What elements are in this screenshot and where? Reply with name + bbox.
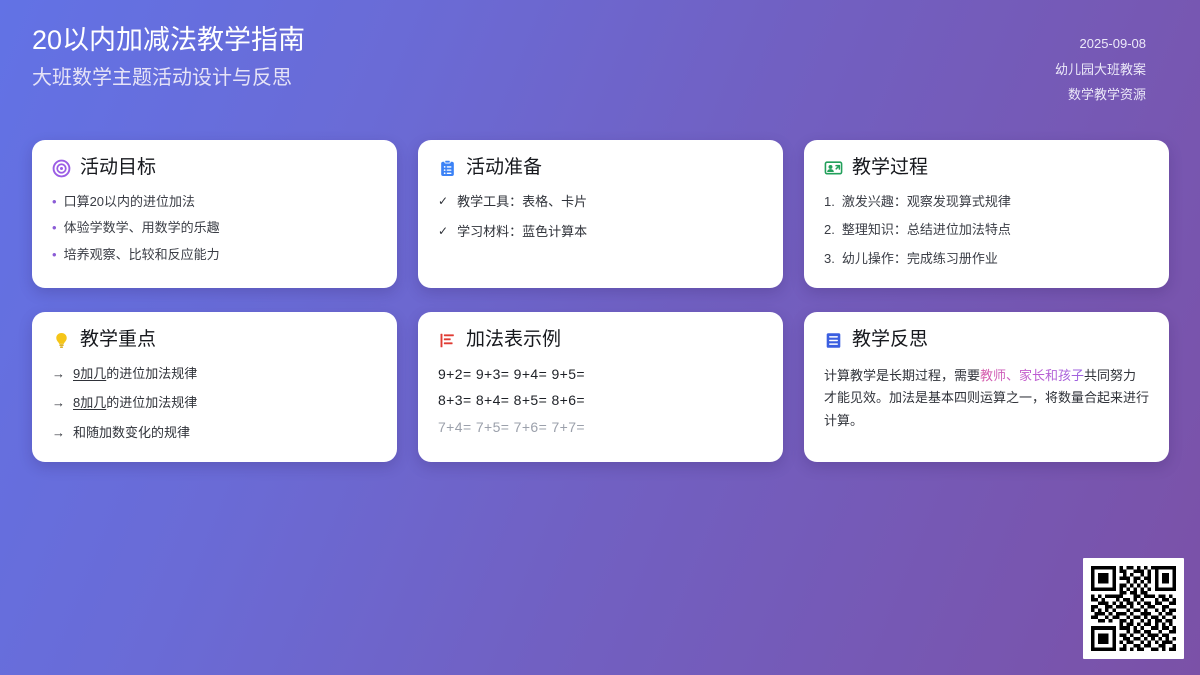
qr-code-image [1091, 566, 1176, 651]
preparation-list: ✓ 教学工具：表格、卡片 ✓ 学习材料：蓝色计算本 [438, 193, 763, 241]
list-item: • 口算20以内的进位加法 [52, 193, 377, 211]
card-header: 活动目标 [52, 157, 377, 180]
qr-code[interactable] [1083, 558, 1184, 659]
bullet-dot: • [52, 219, 57, 237]
card-key-points: 教学重点 → 9加几的进位加法规律 → 8加几的进位加法规律 → 和随加数变化的… [32, 312, 397, 462]
list-item: • 体验学数学、用数学的乐趣 [52, 219, 377, 237]
list-item-text: 培养观察、比较和反应能力 [64, 246, 220, 264]
list-item-text: 激发兴趣：观察发现算式规律 [842, 193, 1011, 211]
list-item-text: 教学工具：表格、卡片 [457, 193, 587, 211]
header-meta-block: 2025-09-08 幼儿园大班教案 数学教学资源 [1055, 24, 1146, 105]
list-item: 3. 幼儿操作：完成练习册作业 [824, 250, 1149, 268]
list-item-text: 体验学数学、用数学的乐趣 [64, 219, 220, 237]
process-list: 1. 激发兴趣：观察发现算式规律 2. 整理知识：总结进位加法特点 3. 幼儿操… [824, 193, 1149, 268]
bar-chart-icon [438, 331, 457, 350]
card-header: 活动准备 [438, 157, 763, 180]
rest-text: 和随加数变化的规律 [73, 425, 190, 440]
bullet-dot: • [52, 246, 57, 264]
card-reflection: 教学反思 计算教学是长期过程，需要教师、家长和孩子共同努力才能见效。加法是基本四… [804, 312, 1169, 462]
check-icon: ✓ [438, 193, 448, 209]
card-header: 加法表示例 [438, 329, 763, 352]
list-item-text: 9加几的进位加法规律 [73, 365, 197, 383]
page-header: 20以内加减法教学指南 大班数学主题活动设计与反思 2025-09-08 幼儿园… [0, 0, 1200, 120]
card-title: 活动目标 [80, 157, 156, 180]
meta-date: 2025-09-08 [1080, 34, 1147, 54]
list-item: • 培养观察、比较和反应能力 [52, 246, 377, 264]
equation-row: 7+4= 7+5= 7+6= 7+7= [438, 418, 763, 436]
card-title: 教学重点 [80, 329, 156, 352]
key-points-list: → 9加几的进位加法规律 → 8加几的进位加法规律 → 和随加数变化的规律 [52, 365, 377, 442]
list-item: → 8加几的进位加法规律 [52, 394, 377, 412]
list-item: → 和随加数变化的规律 [52, 424, 377, 442]
objective-list: • 口算20以内的进位加法 • 体验学数学、用数学的乐趣 • 培养观察、比较和反… [52, 193, 377, 264]
card-title: 活动准备 [466, 157, 542, 180]
page-subtitle: 大班数学主题活动设计与反思 [32, 63, 305, 93]
bullet-dot: • [52, 193, 57, 211]
card-preparation: 活动准备 ✓ 教学工具：表格、卡片 ✓ 学习材料：蓝色计算本 [418, 140, 783, 288]
card-objectives: 活动目标 • 口算20以内的进位加法 • 体验学数学、用数学的乐趣 • 培养观察… [32, 140, 397, 288]
list-item-text: 整理知识：总结进位加法特点 [842, 221, 1011, 239]
arrow-icon: → [52, 394, 65, 412]
lightbulb-icon [52, 331, 71, 350]
card-process: 教学过程 1. 激发兴趣：观察发现算式规律 2. 整理知识：总结进位加法特点 3… [804, 140, 1169, 288]
rest-text: 的进位加法规律 [106, 395, 197, 410]
arrow-icon: → [52, 424, 65, 442]
list-item-text: 和随加数变化的规律 [73, 424, 190, 442]
card-title: 教学反思 [852, 329, 928, 352]
list-item: 1. 激发兴趣：观察发现算式规律 [824, 193, 1149, 211]
list-item: 2. 整理知识：总结进位加法特点 [824, 221, 1149, 239]
presentation-icon [824, 159, 843, 178]
equation-row: 9+2= 9+3= 9+4= 9+5= [438, 365, 763, 383]
meta-source: 数学教学资源 [1068, 85, 1146, 105]
clipboard-icon [438, 159, 457, 178]
list-item-text: 学习材料：蓝色计算本 [457, 223, 587, 241]
header-title-block: 20以内加减法教学指南 大班数学主题活动设计与反思 [32, 24, 305, 93]
list-item: ✓ 学习材料：蓝色计算本 [438, 223, 763, 241]
equation-table: 9+2= 9+3= 9+4= 9+5= 8+3= 8+4= 8+5= 8+6= … [438, 365, 763, 436]
list-item-text: 8加几的进位加法规律 [73, 394, 197, 412]
list-item-text: 幼儿操作：完成练习册作业 [842, 250, 998, 268]
list-item-text: 口算20以内的进位加法 [64, 193, 195, 211]
rest-text: 的进位加法规律 [106, 366, 197, 381]
target-icon [52, 159, 71, 178]
reflection-paragraph: 计算教学是长期过程，需要教师、家长和孩子共同努力才能见效。加法是基本四则运算之一… [824, 365, 1149, 432]
card-addition-table: 加法表示例 9+2= 9+3= 9+4= 9+5= 8+3= 8+4= 8+5=… [418, 312, 783, 462]
highlighted-text: 教师、家长和孩子 [980, 368, 1084, 383]
book-icon [824, 331, 843, 350]
check-icon: ✓ [438, 223, 448, 239]
card-grid: 活动目标 • 口算20以内的进位加法 • 体验学数学、用数学的乐趣 • 培养观察… [32, 140, 1168, 462]
page-title: 20以内加减法教学指南 [32, 24, 305, 57]
equation-row: 8+3= 8+4= 8+5= 8+6= [438, 391, 763, 409]
meta-category: 幼儿园大班教案 [1055, 60, 1146, 80]
list-item: ✓ 教学工具：表格、卡片 [438, 193, 763, 211]
list-number: 1. [824, 193, 835, 211]
card-header: 教学重点 [52, 329, 377, 352]
card-title: 加法表示例 [466, 329, 561, 352]
list-item: → 9加几的进位加法规律 [52, 365, 377, 383]
card-title: 教学过程 [852, 157, 928, 180]
card-header: 教学过程 [824, 157, 1149, 180]
list-number: 3. [824, 250, 835, 268]
list-number: 2. [824, 221, 835, 239]
keyword: 9加几 [73, 366, 106, 381]
card-header: 教学反思 [824, 329, 1149, 352]
keyword: 8加几 [73, 395, 106, 410]
paragraph-part: 计算教学是长期过程，需要 [824, 368, 980, 383]
arrow-icon: → [52, 365, 65, 383]
